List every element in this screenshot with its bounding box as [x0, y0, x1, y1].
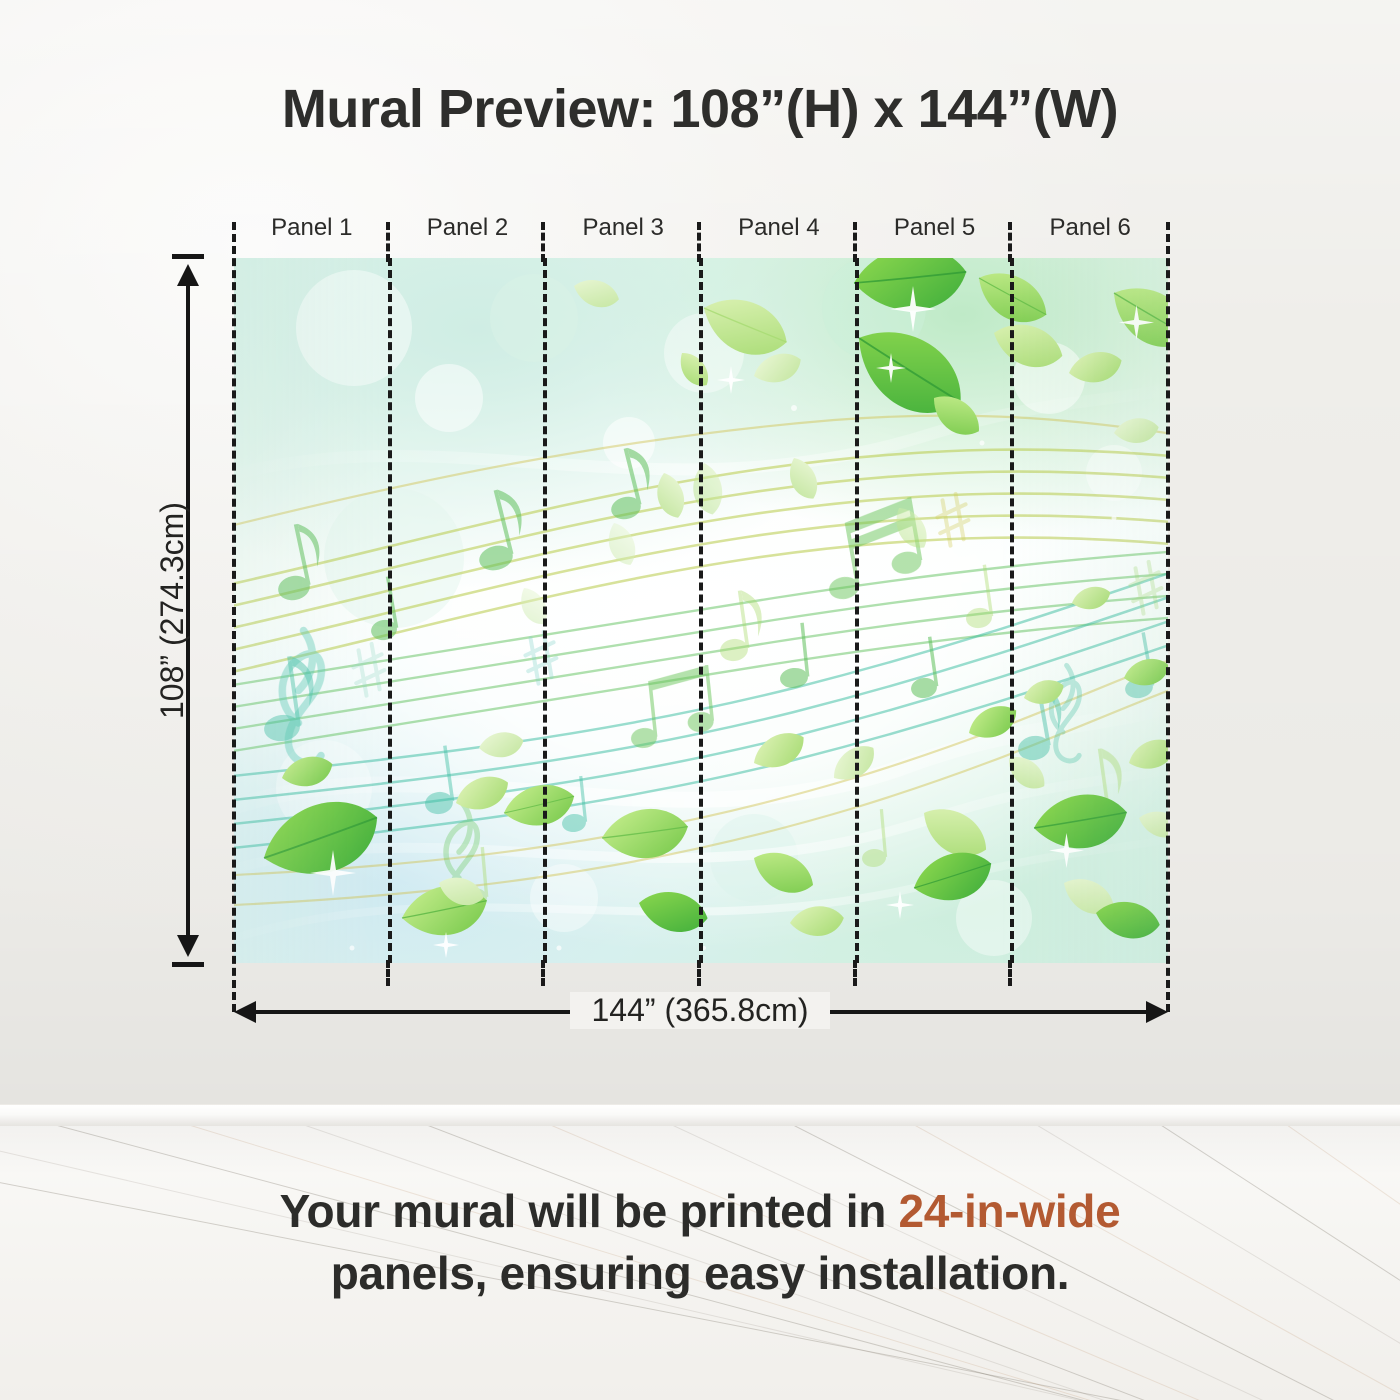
divider-stub-top-4 [853, 222, 857, 262]
divider-stub-top-5 [1008, 222, 1012, 262]
height-dimension-label: 108” (274.3cm) [154, 502, 191, 719]
panel-dividers [234, 258, 1168, 963]
panel-label-3: Panel 3 [545, 213, 701, 247]
panel-divider-3 [699, 258, 703, 963]
page-title: Mural Preview: 108”(H) x 144”(W) [0, 78, 1400, 140]
height-dimension-label-wrap: 108” (274.3cm) [150, 258, 194, 963]
mural-right-boundary [1166, 222, 1170, 1012]
panel-divider-1 [388, 258, 392, 963]
mural-preview-screenshot: Mural Preview: 108”(H) x 144”(W) Panel 1… [0, 0, 1400, 1400]
width-dimension-label-wrap: 144” (365.8cm) [0, 992, 1400, 1029]
panel-label-5: Panel 5 [857, 213, 1013, 247]
panel-divider-4 [855, 258, 859, 963]
divider-stub-bottom-1 [386, 960, 390, 986]
divider-stub-bottom-5 [1008, 960, 1012, 986]
panel-label-4: Panel 4 [701, 213, 857, 247]
panel-divider-2 [543, 258, 547, 963]
caption-highlight: 24-in-wide [898, 1185, 1120, 1237]
caption-line-1: Your mural will be printed in 24-in-wide [0, 1180, 1400, 1242]
panel-label-2: Panel 2 [390, 213, 546, 247]
divider-stub-top-1 [386, 222, 390, 262]
caption-line-2: panels, ensuring easy installation. [0, 1242, 1400, 1304]
divider-stub-top-2 [541, 222, 545, 262]
divider-stub-top-3 [697, 222, 701, 262]
mural-left-boundary [232, 222, 236, 1012]
divider-stub-bottom-2 [541, 960, 545, 986]
mural-artwork [234, 258, 1168, 963]
width-dimension-label: 144” (365.8cm) [570, 992, 831, 1029]
panel-label-1: Panel 1 [234, 213, 390, 247]
divider-stub-bottom-3 [697, 960, 701, 986]
divider-stub-bottom-4 [853, 960, 857, 986]
panel-label-6: Panel 6 [1012, 213, 1168, 247]
panel-divider-5 [1010, 258, 1014, 963]
caption-line1-text: Your mural will be printed in [280, 1185, 899, 1237]
panel-label-row: Panel 1 Panel 2 Panel 3 Panel 4 Panel 5 … [234, 213, 1168, 247]
caption: Your mural will be printed in 24-in-wide… [0, 1180, 1400, 1304]
baseboard [0, 1104, 1400, 1126]
